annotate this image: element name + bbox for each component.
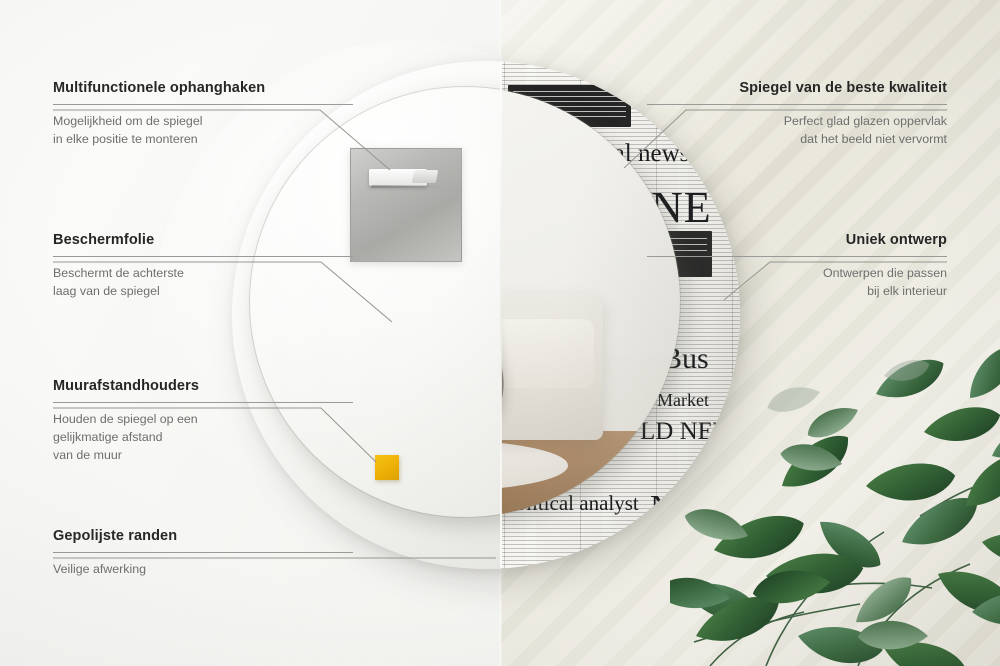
callout-title: Spiegel van de beste kwaliteit	[647, 80, 947, 97]
callout-rule	[53, 256, 353, 257]
callout-title: Beschermfolie	[53, 232, 353, 249]
infographic-canvas: International news NEWS A rates S Bus Ma…	[0, 0, 1000, 666]
callout-rule	[53, 402, 353, 403]
callout-line: bij elk interieur	[647, 283, 947, 301]
callout-rule	[647, 256, 947, 257]
callout-muurafstandhouders: Muurafstandhouders Houden de spiegel op …	[53, 378, 353, 465]
callout-line: Ontwerpen die passen	[647, 265, 947, 283]
callout-title: Uniek ontwerp	[647, 232, 947, 249]
callout-rule	[53, 104, 353, 105]
callout-rule	[647, 104, 947, 105]
callout-multifunctionele-ophanghaken: Multifunctionele ophanghaken Mogelijkhei…	[53, 80, 353, 149]
callout-line: laag van de spiegel	[53, 283, 353, 301]
callout-title: Gepolijste randen	[53, 528, 353, 545]
callout-line: Perfect glad glazen oppervlak	[647, 113, 947, 131]
callout-line: van de muur	[53, 447, 353, 465]
wall-spacer	[375, 455, 399, 480]
hook-clip-icon	[412, 170, 439, 183]
callout-title: Multifunctionele ophanghaken	[53, 80, 353, 97]
callout-line: dat het beeld niet vervormt	[647, 131, 947, 149]
callout-uniek-ontwerp: Uniek ontwerp Ontwerpen die passen bij e…	[647, 232, 947, 301]
callout-line: Veilige afwerking	[53, 561, 353, 579]
callout-beschermfolie: Beschermfolie Beschermt de achterste laa…	[53, 232, 353, 301]
callout-title: Muurafstandhouders	[53, 378, 353, 395]
callout-line: gelijkmatige afstand	[53, 429, 353, 447]
callout-line: in elke positie te monteren	[53, 131, 353, 149]
callout-line: Mogelijkheid om de spiegel	[53, 113, 353, 131]
hook-bar	[371, 185, 441, 188]
callout-line: Beschermt de achterste	[53, 265, 353, 283]
callout-line: Houden de spiegel op een	[53, 411, 353, 429]
callout-gepolijste-randen: Gepolijste randen Veilige afwerking	[53, 528, 353, 579]
hanging-hook-plate	[350, 148, 462, 262]
plant-foliage	[670, 336, 1000, 666]
callout-rule	[53, 552, 353, 553]
callout-spiegel-van-de-beste-kwaliteit: Spiegel van de beste kwaliteit Perfect g…	[647, 80, 947, 149]
